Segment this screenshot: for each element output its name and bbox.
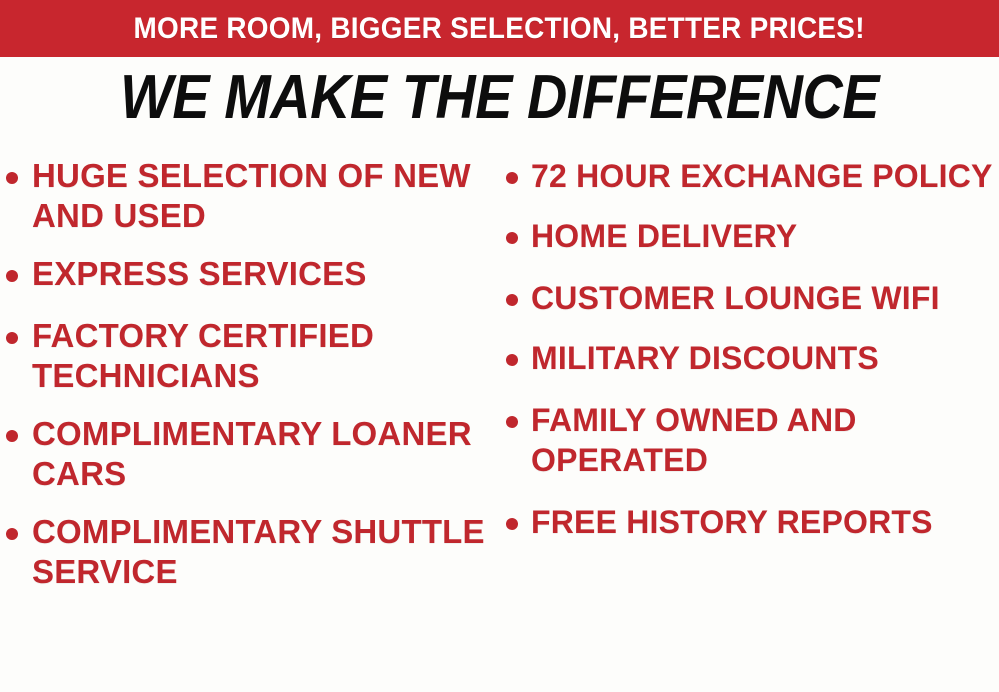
list-item-label: MILITARY DISCOUNTS <box>531 338 999 378</box>
list-item-label: COMPLIMENTARY SHUTTLE SERVICE <box>32 512 506 592</box>
list-item-label: EXPRESS SERVICES <box>32 254 506 294</box>
bullet-dot-icon <box>6 172 18 184</box>
bullet-dot-icon <box>6 430 18 442</box>
list-item: MILITARY DISCOUNTS <box>506 338 999 378</box>
bullet-dot-icon <box>506 416 518 428</box>
bullet-dot-icon <box>506 232 518 244</box>
bullet-dot-icon <box>506 172 518 184</box>
list-item-label: FREE HISTORY REPORTS <box>531 502 999 542</box>
list-item-label: FAMILY OWNED AND OPERATED <box>531 400 999 480</box>
list-item-label: CUSTOMER LOUNGE WIFI <box>531 278 999 318</box>
promo-banner-text: MORE ROOM, BIGGER SELECTION, BETTER PRIC… <box>134 14 865 44</box>
headline: WE MAKE THE DIFFERENCE <box>0 62 999 134</box>
advertisement-banner: MORE ROOM, BIGGER SELECTION, BETTER PRIC… <box>0 0 999 692</box>
list-item-label: HUGE SELECTION OF NEW AND USED <box>32 156 506 236</box>
list-item: HOME DELIVERY <box>506 216 999 256</box>
list-item: FAMILY OWNED AND OPERATED <box>506 400 999 480</box>
list-item-label: 72 HOUR EXCHANGE POLICY <box>531 156 999 196</box>
feature-columns: HUGE SELECTION OF NEW AND USED EXPRESS S… <box>0 156 999 692</box>
list-item-label: COMPLIMENTARY LOANER CARS <box>32 414 506 494</box>
list-item: CUSTOMER LOUNGE WIFI <box>506 278 999 318</box>
list-item-label: FACTORY CERTIFIED TECHNICIANS <box>32 316 506 396</box>
list-item: HUGE SELECTION OF NEW AND USED <box>6 156 506 236</box>
feature-column-right: 72 HOUR EXCHANGE POLICY HOME DELIVERY CU… <box>506 156 999 564</box>
list-item: COMPLIMENTARY SHUTTLE SERVICE <box>6 512 506 592</box>
feature-column-left: HUGE SELECTION OF NEW AND USED EXPRESS S… <box>6 156 506 614</box>
list-item: 72 HOUR EXCHANGE POLICY <box>506 156 999 196</box>
headline-text: WE MAKE THE DIFFERENCE <box>120 62 879 134</box>
bullet-dot-icon <box>6 332 18 344</box>
bullet-dot-icon <box>506 354 518 366</box>
list-item: FACTORY CERTIFIED TECHNICIANS <box>6 316 506 396</box>
bullet-dot-icon <box>506 518 518 530</box>
list-item: EXPRESS SERVICES <box>6 254 506 294</box>
bullet-dot-icon <box>6 528 18 540</box>
list-item-label: HOME DELIVERY <box>531 216 999 256</box>
promo-banner: MORE ROOM, BIGGER SELECTION, BETTER PRIC… <box>0 0 999 57</box>
list-item: FREE HISTORY REPORTS <box>506 502 999 542</box>
bullet-dot-icon <box>506 294 518 306</box>
list-item: COMPLIMENTARY LOANER CARS <box>6 414 506 494</box>
bullet-dot-icon <box>6 270 18 282</box>
